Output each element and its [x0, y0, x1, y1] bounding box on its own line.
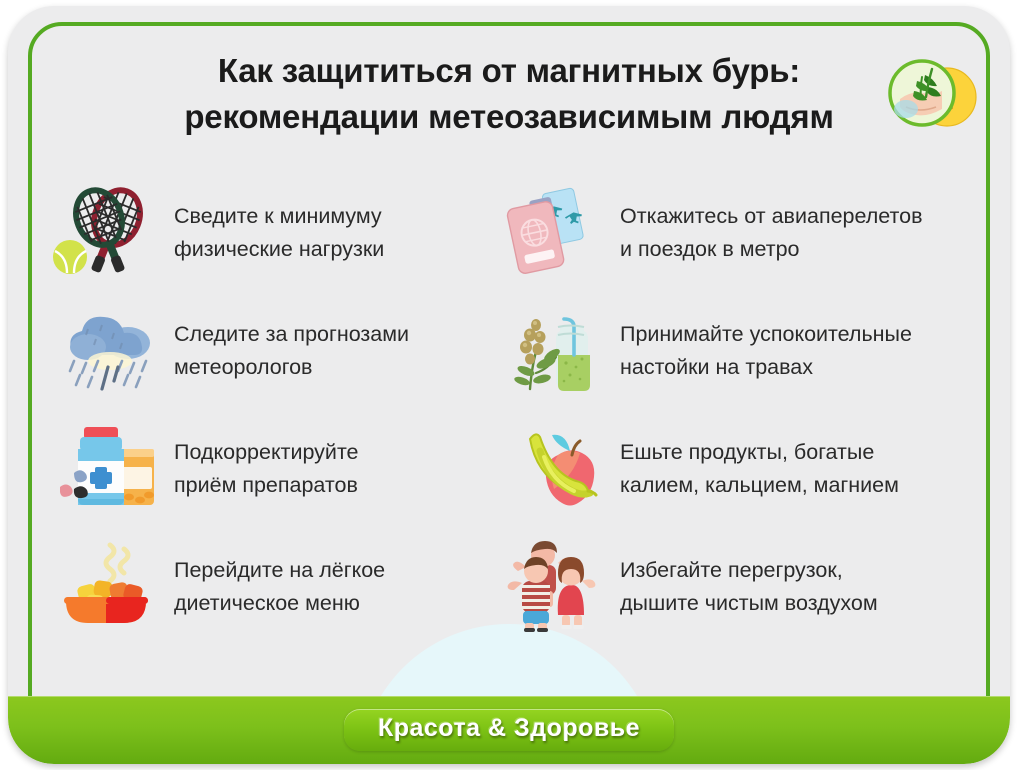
tip-text: Сведите к минимуму физические нагрузки — [174, 200, 384, 265]
tip-text: Принимайте успокоительные настойки на тр… — [620, 318, 912, 383]
children-playing-icon — [492, 535, 612, 639]
beauty-health-logo — [884, 47, 980, 139]
tip-item: Перейдите на лёгкое диетическое меню — [46, 528, 486, 646]
tip-line-2: метеорологов — [174, 351, 409, 384]
tip-item: Следите за прогнозами метеорологов — [46, 292, 486, 410]
food-bowl-icon — [46, 535, 166, 639]
tip-line-1: Избегайте перегрузок, — [620, 558, 843, 582]
herbal-drink-jar-icon — [492, 299, 612, 403]
tip-text: Подкорректируйте приём препаратов — [174, 436, 359, 501]
tip-item: Сведите к минимуму физические нагрузки — [46, 174, 486, 292]
rain-cloud-icon — [46, 299, 166, 403]
tip-line-1: Сведите к минимуму — [174, 204, 382, 228]
tennis-rackets-icon — [46, 181, 166, 285]
tip-text: Ешьте продукты, богатые калием, кальцием… — [620, 436, 899, 501]
tip-line-1: Подкорректируйте — [174, 440, 359, 464]
title-line-2: рекомендации метеозависимым людям — [68, 94, 950, 140]
tip-item: Откажитесь от авиаперелетов и поездок в … — [492, 174, 992, 292]
tip-text: Следите за прогнозами метеорологов — [174, 318, 409, 383]
tip-item: Подкорректируйте приём препаратов — [46, 410, 486, 528]
tip-line-1: Откажитесь от авиаперелетов — [620, 204, 923, 228]
tips-grid: Сведите к минимуму физические нагрузки — [46, 174, 990, 646]
tip-text: Откажитесь от авиаперелетов и поездок в … — [620, 200, 923, 265]
tip-line-2: физические нагрузки — [174, 233, 384, 266]
poster-card: Как защититься от магнитных бурь: рекоме… — [8, 6, 1010, 764]
brand-label: Красота & Здоровье — [378, 714, 640, 742]
infographic-poster: Как защититься от магнитных бурь: рекоме… — [0, 0, 1018, 770]
tip-line-1: Принимайте успокоительные — [620, 322, 912, 346]
tip-line-2: диетическое меню — [174, 587, 385, 620]
medicine-bottles-icon — [46, 417, 166, 521]
banana-apple-icon — [492, 417, 612, 521]
tip-line-1: Следите за прогнозами — [174, 322, 409, 346]
tip-line-1: Ешьте продукты, богатые — [620, 440, 874, 464]
passport-boarding-pass-icon — [492, 181, 612, 285]
tip-line-2: настойки на травах — [620, 351, 912, 384]
tip-line-2: калием, кальцием, магнием — [620, 469, 899, 502]
tip-line-2: и поездок в метро — [620, 233, 923, 266]
tip-item: Ешьте продукты, богатые калием, кальцием… — [492, 410, 992, 528]
tip-text: Перейдите на лёгкое диетическое меню — [174, 554, 385, 619]
tip-text: Избегайте перегрузок, дышите чистым возд… — [620, 554, 878, 619]
tip-line-2: приём препаратов — [174, 469, 359, 502]
page-title: Как защититься от магнитных бурь: рекоме… — [68, 48, 950, 139]
tip-line-2: дышите чистым воздухом — [620, 587, 878, 620]
title-line-1: Как защититься от магнитных бурь: — [68, 48, 950, 94]
tip-item: Избегайте перегрузок, дышите чистым возд… — [492, 528, 992, 646]
brand-badge[interactable]: Красота & Здоровье — [344, 709, 674, 751]
tip-line-1: Перейдите на лёгкое — [174, 558, 385, 582]
footer-band: Красота & Здоровье — [8, 696, 1010, 764]
tip-item: Принимайте успокоительные настойки на тр… — [492, 292, 992, 410]
